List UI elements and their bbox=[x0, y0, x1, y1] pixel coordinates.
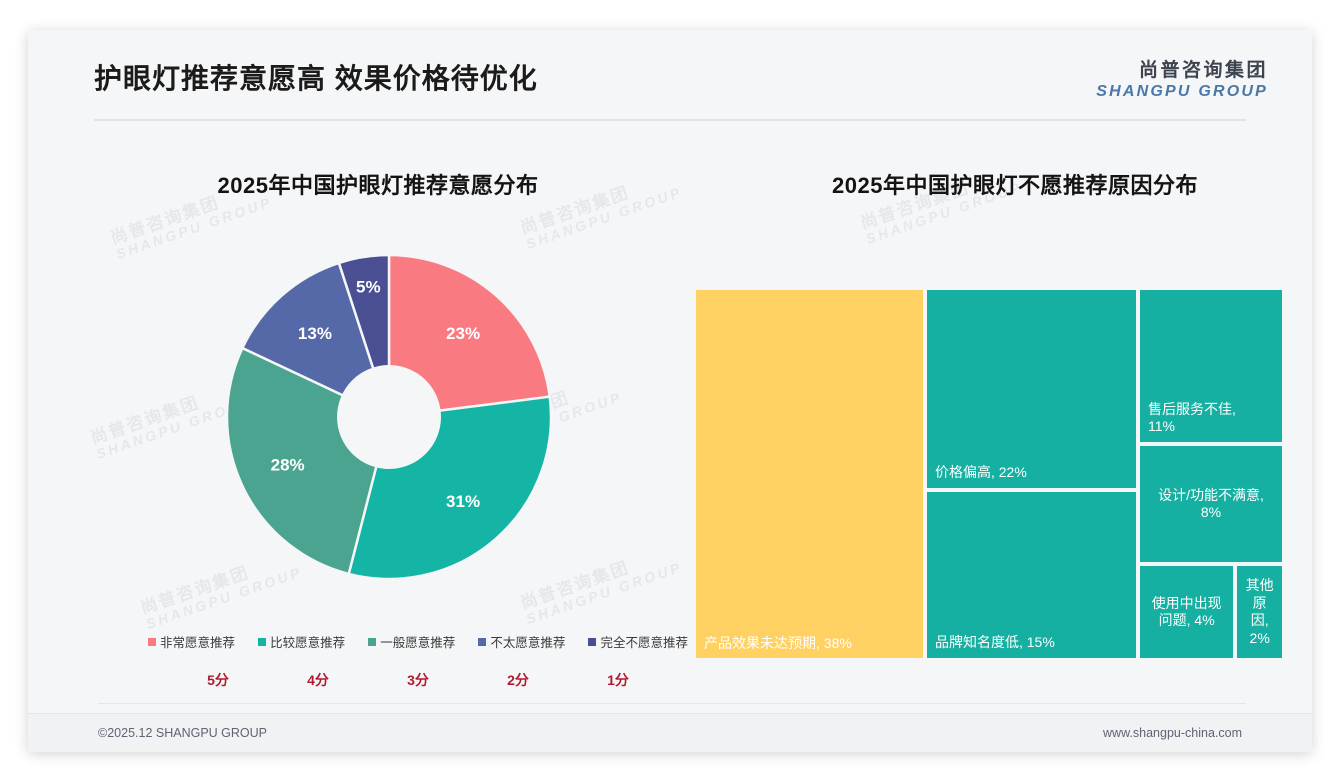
footer-copyright: ©2025.12 SHANGPU GROUP bbox=[98, 726, 267, 740]
donut-slice-label: 28% bbox=[271, 456, 305, 475]
legend-label: 非常愿意推荐 bbox=[160, 632, 235, 651]
note-divider bbox=[98, 703, 1246, 704]
legend-swatch-icon bbox=[148, 638, 156, 646]
legend-swatch-icon bbox=[368, 638, 376, 646]
legend-label: 完全不愿意推荐 bbox=[600, 632, 688, 651]
slide-page: 尚普咨询集团 SHANGPU GROUP 尚普咨询集团 SHANGPU GROU… bbox=[0, 0, 1340, 780]
donut-svg: 23%31%28%13%5% bbox=[224, 252, 554, 582]
legend-label: 比较愿意推荐 bbox=[270, 632, 345, 651]
treemap-cell[interactable]: 产品效果未达预期, 38% bbox=[694, 288, 925, 660]
treemap-chart: 产品效果未达预期, 38%价格偏高, 22%品牌知名度低, 15%售后服务不佳,… bbox=[694, 288, 1284, 660]
treemap-cell[interactable]: 使用中出现 问题, 4% bbox=[1138, 564, 1235, 660]
score-label: 3分 bbox=[368, 670, 468, 690]
treemap-cell[interactable]: 品牌知名度低, 15% bbox=[925, 490, 1138, 660]
treemap-cell[interactable]: 售后服务不佳, 11% bbox=[1138, 288, 1284, 444]
treemap-cell-label: 产品效果未达预期, 38% bbox=[696, 629, 860, 659]
score-row: 5分4分3分2分1分 bbox=[168, 670, 668, 690]
score-label: 5分 bbox=[168, 670, 268, 690]
legend-item[interactable]: 不太愿意推荐 bbox=[478, 632, 565, 651]
footer-bar: ©2025.12 SHANGPU GROUP www.shangpu-china… bbox=[28, 713, 1312, 752]
logo-en-text: SHANGPU GROUP bbox=[1096, 83, 1268, 101]
treemap-cell[interactable]: 其他 原因, 2% bbox=[1235, 564, 1284, 660]
treemap-cell-label: 使用中出现 问题, 4% bbox=[1144, 589, 1230, 636]
footer-website: www.shangpu-china.com bbox=[1103, 726, 1242, 740]
treemap-cell-label: 售后服务不佳, 11% bbox=[1140, 395, 1244, 442]
donut-slice-label: 5% bbox=[356, 278, 381, 297]
donut-legend: 非常愿意推荐比较愿意推荐一般愿意推荐不太愿意推荐完全不愿意推荐 bbox=[148, 632, 688, 651]
score-label: 1分 bbox=[568, 670, 668, 690]
right-chart-title: 2025年中国护眼灯不愿推荐原因分布 bbox=[770, 168, 1260, 200]
donut-hole bbox=[337, 365, 441, 469]
donut-chart: 23%31%28%13%5% bbox=[224, 252, 554, 582]
legend-item[interactable]: 完全不愿意推荐 bbox=[588, 632, 688, 651]
donut-slice-label: 13% bbox=[298, 324, 332, 343]
legend-label: 不太愿意推荐 bbox=[490, 632, 565, 651]
legend-swatch-icon bbox=[478, 638, 486, 646]
treemap-cell-label: 品牌知名度低, 15% bbox=[927, 628, 1063, 658]
slide-card: 尚普咨询集团 SHANGPU GROUP 尚普咨询集团 SHANGPU GROU… bbox=[28, 30, 1312, 752]
treemap-cell[interactable]: 设计/功能不满意, 8% bbox=[1138, 444, 1284, 565]
legend-item[interactable]: 一般愿意推荐 bbox=[368, 632, 455, 651]
legend-label: 一般愿意推荐 bbox=[380, 632, 455, 651]
page-title: 护眼灯推荐意愿高 效果价格待优化 bbox=[94, 57, 538, 97]
legend-swatch-icon bbox=[258, 638, 266, 646]
treemap-cell-label: 设计/功能不满意, 8% bbox=[1150, 481, 1272, 528]
brand-logo: 尚普咨询集团 SHANGPU GROUP bbox=[1096, 55, 1268, 101]
score-label: 2分 bbox=[468, 670, 568, 690]
treemap-cell[interactable]: 价格偏高, 22% bbox=[925, 288, 1138, 490]
treemap-cell-label: 价格偏高, 22% bbox=[927, 458, 1035, 488]
score-label: 4分 bbox=[268, 670, 368, 690]
legend-item[interactable]: 非常愿意推荐 bbox=[148, 632, 235, 651]
treemap-cell-label: 其他 原因, 2% bbox=[1237, 571, 1282, 653]
donut-slice-label: 31% bbox=[446, 492, 480, 511]
header-divider bbox=[94, 119, 1246, 121]
logo-cn-text: 尚普咨询集团 bbox=[1096, 55, 1268, 82]
donut-slice-label: 23% bbox=[446, 324, 480, 343]
left-chart-title: 2025年中国护眼灯推荐意愿分布 bbox=[158, 168, 598, 200]
slide-header: 护眼灯推荐意愿高 效果价格待优化 尚普咨询集团 SHANGPU GROUP bbox=[28, 30, 1312, 120]
legend-swatch-icon bbox=[588, 638, 596, 646]
legend-item[interactable]: 比较愿意推荐 bbox=[258, 632, 345, 651]
